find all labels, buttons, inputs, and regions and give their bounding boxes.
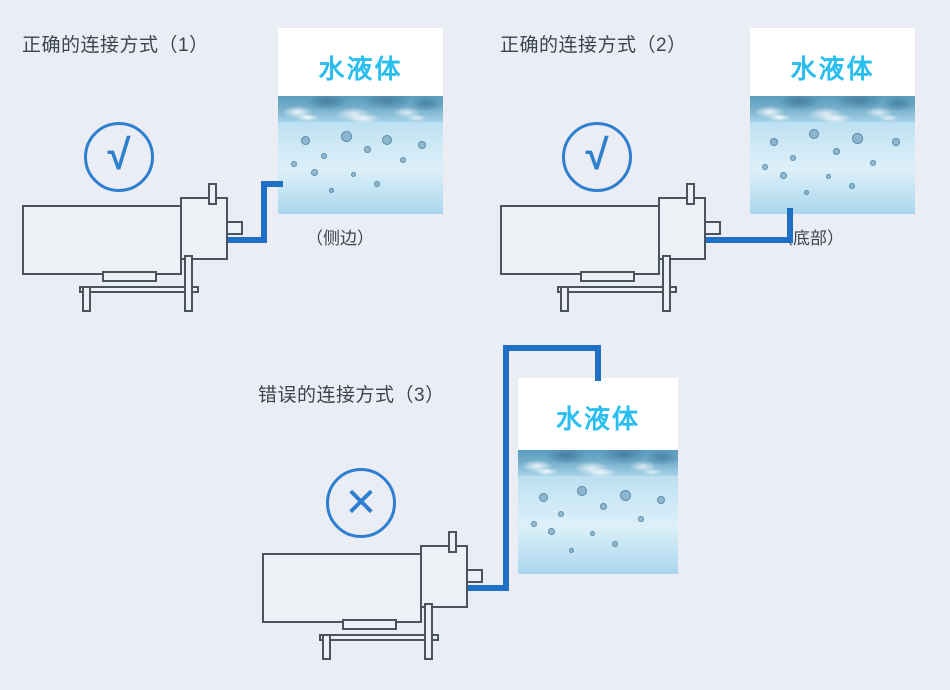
diagram-canvas: 正确的连接方式（1） √ 水液体: [0, 0, 950, 690]
pump-outlet-nozzle: [704, 221, 721, 235]
pipe-segment-vertical: [261, 181, 267, 243]
pump-leg-right: [424, 603, 433, 660]
pump-leg-right: [662, 255, 671, 312]
panel-wrong-3: 错误的连接方式（3） ✕ 水液体: [240, 340, 700, 690]
pump-mount-bracket: [342, 619, 397, 630]
water-tank: 水液体: [518, 378, 678, 574]
pump-motor-body: [22, 205, 182, 275]
bubbles: [278, 96, 443, 214]
pump-motor-body: [262, 553, 422, 623]
pipe-segment-horizontal-upper: [261, 181, 283, 187]
check-glyph: √: [565, 123, 629, 187]
tank-label: 水液体: [518, 406, 678, 432]
pump-leg-left: [322, 634, 331, 660]
tank-label: 水液体: [750, 56, 915, 82]
check-circle-icon: √: [562, 122, 632, 192]
pump-head: [180, 197, 228, 260]
pump-outlet-nozzle: [226, 221, 243, 235]
pump-mount-bracket: [102, 271, 157, 282]
pump-head: [658, 197, 706, 260]
panel-correct-1: 正确的连接方式（1） √ 水液体: [0, 0, 470, 330]
panel-title: 正确的连接方式（1）: [22, 36, 209, 55]
pump-assembly: [22, 183, 252, 318]
pump-mount-bracket: [580, 271, 635, 282]
pipe-segment-vertical-riser: [503, 345, 509, 591]
panel-correct-2: 正确的连接方式（2） √ 水液体: [478, 0, 950, 330]
tank-label: 水液体: [278, 56, 443, 82]
pump-leg-right: [184, 255, 193, 312]
pump-outlet-nozzle: [466, 569, 483, 583]
pump-leg-left: [560, 286, 569, 312]
pipe-segment-vertical-into-bottom: [787, 208, 793, 243]
pump-head: [420, 545, 468, 608]
pump-motor-body: [500, 205, 660, 275]
pump-vent-pipe: [208, 183, 217, 205]
pump-assembly: [500, 183, 730, 318]
pump-base-rail: [79, 286, 199, 293]
pump-assembly: [262, 531, 492, 666]
water-tank: 水液体: [750, 28, 915, 214]
pump-leg-left: [82, 286, 91, 312]
pump-base-rail: [557, 286, 677, 293]
cross-circle-icon: ✕: [326, 468, 396, 538]
panel-title: 错误的连接方式（3）: [258, 386, 445, 405]
water-body: [518, 450, 678, 574]
water-body: [750, 96, 915, 214]
check-circle-icon: √: [84, 122, 154, 192]
pump-vent-pipe: [686, 183, 695, 205]
pump-base-rail: [319, 634, 439, 641]
bubbles: [750, 96, 915, 214]
tank-caption: （侧边）: [306, 230, 374, 247]
pump-vent-pipe: [448, 531, 457, 553]
pipe-segment-vertical-downspout: [595, 345, 601, 381]
bubbles: [518, 450, 678, 574]
check-glyph: √: [87, 123, 151, 187]
water-tank: 水液体: [278, 28, 443, 214]
water-body: [278, 96, 443, 214]
panel-title: 正确的连接方式（2）: [500, 36, 687, 55]
pipe-segment-horizontal-top: [503, 345, 601, 351]
cross-glyph: ✕: [329, 471, 393, 535]
